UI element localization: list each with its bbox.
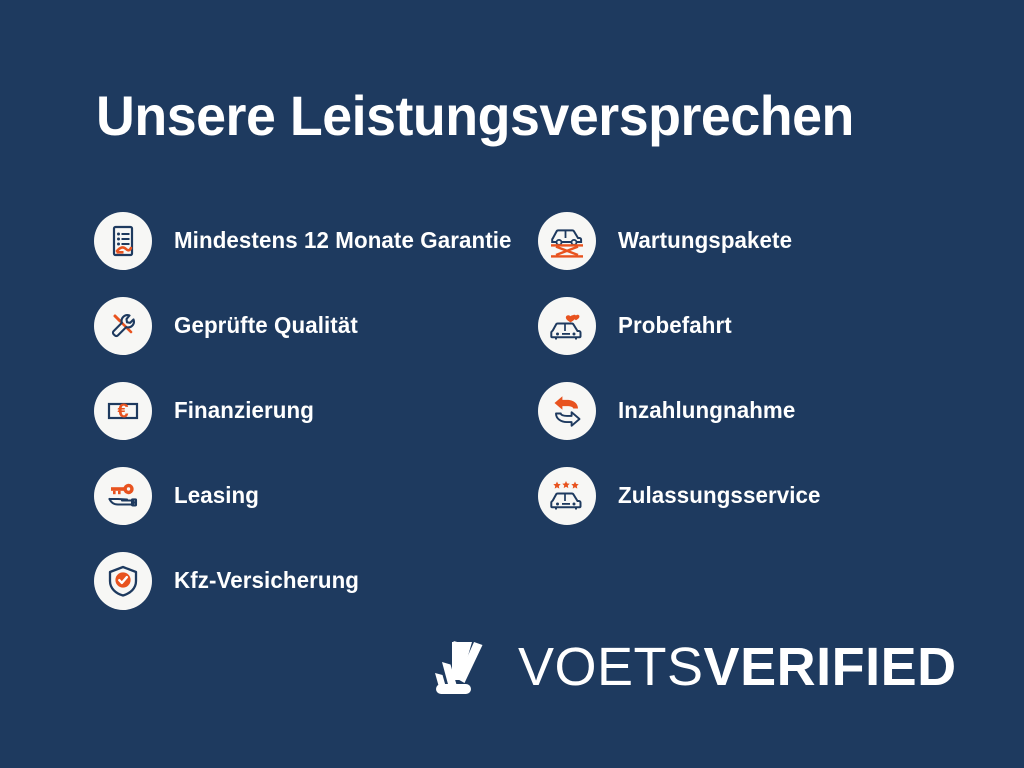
feature-item-wartungspakete: Wartungspakete	[538, 198, 1024, 283]
brand-wordmark: VOETSVERIFIED	[518, 640, 957, 694]
brand-logo: VOETSVERIFIED	[434, 636, 957, 698]
page-title: Unsere Leistungsversprechen	[96, 88, 854, 144]
features-left-column: Mindestens 12 Monate Garantie Geprüft	[0, 198, 520, 623]
feature-label: Probefahrt	[618, 312, 732, 339]
document-signature-icon	[94, 212, 152, 270]
feature-label: Kfz-Versicherung	[174, 567, 359, 594]
voets-v-mark-icon	[434, 636, 492, 698]
feature-item-versicherung: Kfz-Versicherung	[94, 538, 520, 623]
svg-text:€: €	[117, 400, 128, 422]
shield-check-icon	[94, 552, 152, 610]
feature-label: Zulassungsservice	[618, 482, 821, 509]
exchange-arrows-icon	[538, 382, 596, 440]
feature-label: Leasing	[174, 482, 259, 509]
feature-label: Inzahlungnahme	[618, 397, 795, 424]
feature-item-probefahrt: Probefahrt	[538, 283, 1024, 368]
wrench-screwdriver-icon	[94, 297, 152, 355]
feature-label: Finanzierung	[174, 397, 314, 424]
banknote-euro-icon: €	[94, 382, 152, 440]
car-stars-icon	[538, 467, 596, 525]
feature-label: Wartungspakete	[618, 227, 792, 254]
feature-item-leasing: Leasing	[94, 453, 520, 538]
features-right-column: Wartungspakete	[520, 198, 1024, 623]
feature-item-qualitaet: Geprüfte Qualität	[94, 283, 520, 368]
car-hearts-icon	[538, 297, 596, 355]
feature-label: Mindestens 12 Monate Garantie	[174, 227, 512, 254]
brand-word-verified: VERIFIED	[704, 637, 957, 697]
feature-item-inzahlungnahme: Inzahlungnahme	[538, 368, 1024, 453]
brand-word-voets: VOETS	[518, 637, 704, 697]
feature-label: Geprüfte Qualität	[174, 312, 358, 339]
feature-item-zulassungsservice: Zulassungsservice	[538, 453, 1024, 538]
feature-item-garantie: Mindestens 12 Monate Garantie	[94, 198, 520, 283]
car-on-lift-icon	[538, 212, 596, 270]
promo-poster: Unsere Leistungsversprechen	[0, 0, 1024, 768]
features-grid: Mindestens 12 Monate Garantie Geprüft	[0, 198, 1024, 623]
key-in-hand-icon	[94, 467, 152, 525]
feature-item-finanzierung: € Finanzierung	[94, 368, 520, 453]
